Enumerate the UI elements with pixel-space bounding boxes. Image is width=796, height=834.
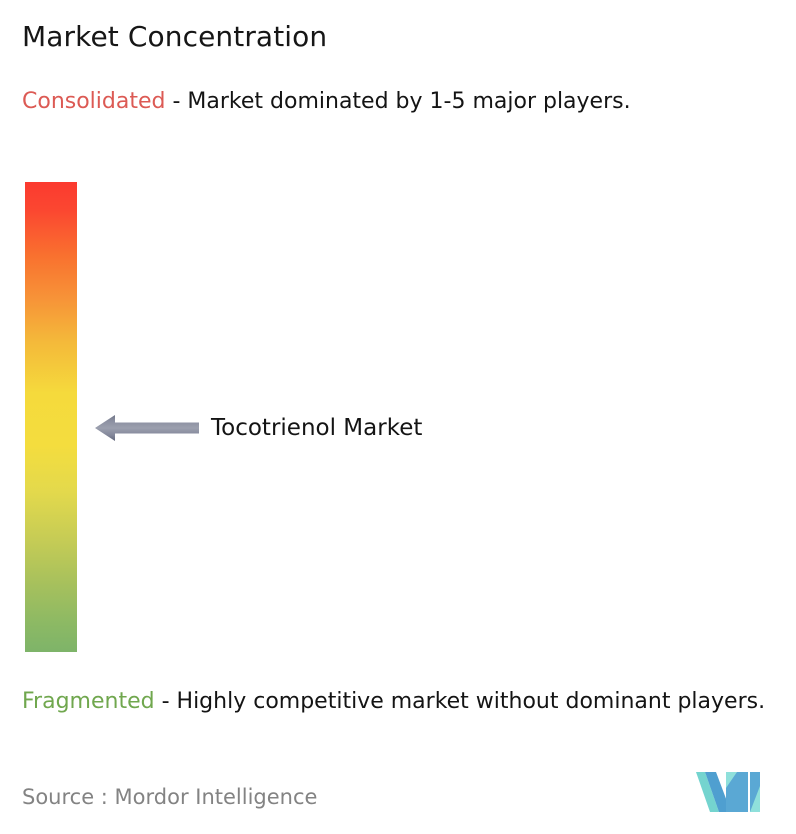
legend-description-fragmented: Highly competitive market without domina… (177, 689, 766, 714)
legend-fragmented: Fragmented - Highly competitive market w… (22, 686, 784, 717)
mordor-intelligence-logo (696, 768, 762, 816)
concentration-scale-bar (25, 182, 77, 652)
market-position-label: Tocotrienol Market (211, 412, 422, 444)
legend-consolidated: Consolidated - Market dominated by 1-5 m… (22, 86, 784, 117)
legend-separator-fragmented: - (155, 689, 177, 714)
market-position-pointer: Tocotrienol Market (95, 412, 422, 444)
arrow-left-icon (95, 412, 199, 444)
gradient-fill (25, 182, 77, 652)
legend-description-consolidated: Market dominated by 1-5 major players. (187, 89, 630, 114)
legend-separator-consolidated: - (165, 89, 187, 114)
legend-key-consolidated: Consolidated (22, 89, 165, 114)
legend-key-fragmented: Fragmented (22, 689, 155, 714)
market-concentration-chart: Market Concentration Consolidated - Mark… (0, 0, 796, 834)
page-title: Market Concentration (22, 20, 327, 54)
source-attribution: Source : Mordor Intelligence (22, 782, 317, 812)
